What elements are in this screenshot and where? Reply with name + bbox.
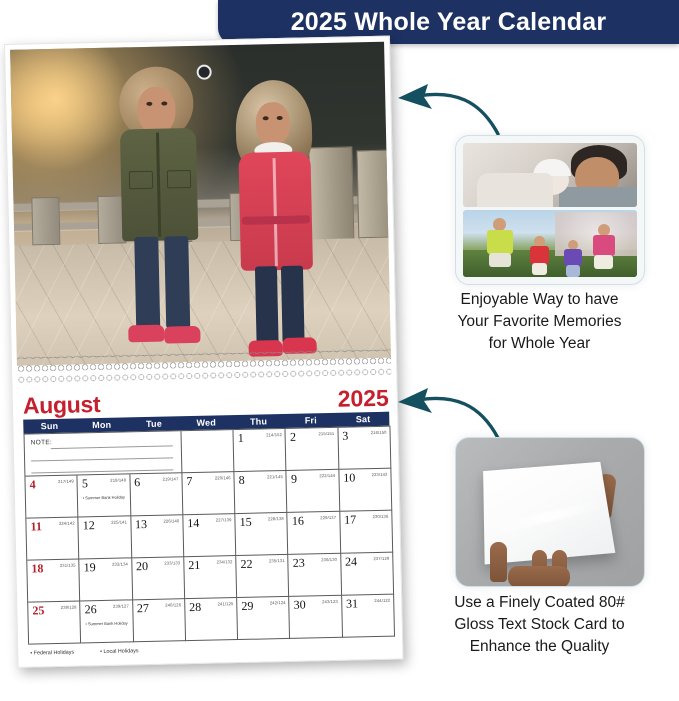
stone-pillar (356, 149, 391, 238)
day-number: 18 (31, 561, 43, 576)
calendar-day-cell[interactable]: 5218/148• Summer Bank Holiday (78, 474, 131, 517)
calendar-card: August 2025 SunMonTueWedThuFriSat NOTE: … (4, 36, 404, 668)
day-number: 22 (240, 557, 252, 572)
day-of-year-code: 231/135 (60, 563, 76, 568)
day-number: 29 (241, 599, 253, 614)
family-hiking-photo (463, 210, 637, 277)
dow-sat: Sat (337, 412, 390, 427)
note-label: NOTE: (31, 439, 53, 446)
day-number: 5 (82, 476, 88, 491)
calendar-day-cell[interactable]: 29242/124 (237, 597, 290, 640)
day-number: 31 (346, 596, 358, 611)
day-number: 28 (189, 600, 201, 615)
punch-hole (196, 64, 211, 79)
calendar-day-cell[interactable]: 3216/150 (338, 427, 391, 470)
day-of-year-code: 237/129 (373, 556, 389, 561)
day-of-year-code: 223/143 (372, 472, 388, 477)
caption-line: Enhance the Quality (400, 636, 679, 658)
calendar-day-cell[interactable]: 27240/126 (133, 599, 186, 642)
pointer-arrow-icon (388, 78, 508, 138)
legend-item: • Federal Holidays (30, 650, 74, 657)
caption-line: Use a Finely Coated 80# (400, 592, 679, 614)
day-number: 3 (342, 429, 348, 444)
dow-thu: Thu (232, 414, 285, 429)
calendar-day-cell[interactable]: 16229/137 (288, 512, 341, 555)
day-of-year-code: 242/124 (270, 600, 286, 605)
calendar-day-cell[interactable]: 7220/146 (182, 472, 235, 515)
day-number: 23 (293, 556, 305, 571)
day-number: 27 (137, 601, 149, 616)
calendar-grid: NOTE: 1214/1522215/1513216/1504217/14952… (24, 426, 396, 645)
day-of-year-code: 229/137 (320, 515, 336, 520)
day-of-year-code: 241/125 (218, 601, 234, 606)
feature-caption-2: Use a Finely Coated 80#Gloss Text Stock … (400, 592, 679, 658)
day-number: 4 (29, 477, 35, 492)
holiday-label: • Summer Bank Holiday (81, 620, 132, 627)
day-of-year-code: 243/123 (322, 599, 338, 604)
day-number: 15 (239, 515, 251, 530)
day-of-year-code: 238/128 (61, 605, 77, 610)
day-number: 6 (134, 475, 140, 490)
day-number: 24 (345, 554, 357, 569)
day-of-year-code: 240/126 (165, 602, 181, 607)
day-number: 7 (186, 474, 192, 489)
memories-photo-panel (455, 135, 645, 285)
calendar-day-cell[interactable]: 23236/130 (289, 554, 342, 597)
calendar-day-cell[interactable]: 10223/143 (339, 469, 392, 512)
sun-glow (10, 42, 133, 171)
day-number: 11 (30, 519, 42, 534)
calendar-day-cell[interactable]: 19232/134 (80, 558, 133, 601)
father-baby-photo (463, 143, 637, 207)
caption-line: for Whole Year (400, 333, 679, 355)
palm (508, 566, 570, 587)
pointer-arrow-icon (388, 382, 508, 442)
day-of-year-code: 244/122 (374, 598, 390, 603)
day-of-year-code: 228/138 (268, 516, 284, 521)
calendar-day-cell[interactable]: 21234/132 (184, 556, 237, 599)
day-number: 1 (238, 431, 244, 446)
note-block[interactable]: NOTE: (25, 431, 183, 476)
calendar-day-cell[interactable]: 9222/144 (287, 470, 340, 513)
child-girl (233, 79, 327, 357)
day-of-year-code: 227/139 (216, 517, 232, 522)
day-number: 26 (84, 602, 96, 617)
day-number: 10 (343, 470, 355, 485)
calendar-day-cell[interactable]: 11224/142 (26, 517, 79, 560)
calendar-product-image: August 2025 SunMonTueWedThuFriSat NOTE: … (4, 36, 406, 674)
day-of-year-code: 235/131 (269, 558, 285, 563)
calendar-day-cell[interactable]: 31244/122 (342, 595, 395, 638)
day-of-year-code: 219/147 (162, 476, 178, 481)
calendar-day-cell[interactable]: 4217/149 (25, 475, 78, 518)
day-number: 13 (135, 517, 147, 532)
gloss-shine (492, 499, 606, 535)
page-title: 2025 Whole Year Calendar (291, 8, 607, 37)
day-of-year-code: 216/150 (371, 430, 387, 435)
caption-line: Gloss Text Stock Card to (400, 614, 679, 636)
calendar-day-cell[interactable]: 18231/135 (27, 559, 80, 602)
note-line (51, 445, 173, 449)
day-number: 12 (83, 518, 95, 533)
day-of-year-code: 221/145 (267, 474, 283, 479)
calendar-day-cell[interactable]: 17230/136 (340, 511, 393, 554)
day-of-year-code: 234/132 (217, 559, 233, 564)
calendar-day-cell[interactable]: 12225/141 (79, 516, 132, 559)
day-number: 2 (290, 430, 296, 445)
legend-item: • Local Holidays (100, 648, 139, 655)
day-of-year-code: 236/130 (321, 557, 337, 562)
dow-fri: Fri (285, 413, 338, 428)
caption-line: Your Favorite Memories (400, 311, 679, 333)
calendar-day-cell[interactable]: 8221/145 (235, 471, 288, 514)
day-number: 30 (294, 598, 306, 613)
calendar-day-cell[interactable]: 14227/139 (183, 514, 236, 557)
day-number: 16 (292, 514, 304, 529)
caption-line: Enjoyable Way to have (400, 289, 679, 311)
day-number: 9 (291, 472, 297, 487)
month-name: August (23, 391, 101, 420)
calendar-hero-photo (10, 42, 391, 366)
day-of-year-code: 225/141 (111, 519, 127, 524)
day-of-year-code: 233/133 (164, 560, 180, 565)
day-of-year-code: 230/136 (372, 514, 388, 519)
note-line (31, 457, 173, 461)
calendar-day-cell[interactable]: 28241/125 (185, 598, 238, 641)
day-of-year-code: 232/134 (112, 561, 128, 566)
day-of-year-code: 222/144 (319, 473, 335, 478)
day-number: 19 (84, 560, 96, 575)
calendar-day-cell[interactable]: 24237/129 (341, 553, 394, 596)
calendar-day-cell[interactable]: 15228/138 (235, 513, 288, 556)
calendar-day-cell-empty (181, 430, 234, 473)
calendar-day-cell[interactable]: 2215/151 (286, 428, 339, 471)
day-number: 8 (239, 473, 245, 488)
calendar-day-cell[interactable]: 6219/147 (130, 473, 183, 516)
calendar-day-cell[interactable]: 1214/152 (234, 429, 287, 472)
day-of-year-code: 239/127 (113, 603, 129, 608)
holiday-label: • Summer Bank Holiday (78, 494, 129, 501)
gloss-paper-photo-panel (455, 437, 645, 587)
day-of-year-code: 224/142 (59, 521, 75, 526)
day-number: 25 (32, 603, 44, 618)
day-number: 21 (188, 558, 200, 573)
feature-caption-1: Enjoyable Way to haveYour Favorite Memor… (400, 289, 679, 355)
calendar-day-cell[interactable]: 25238/128 (28, 601, 81, 644)
day-of-year-code: 220/146 (215, 475, 231, 480)
calendar-day-cell[interactable]: 30243/123 (290, 596, 343, 639)
day-of-year-code: 218/148 (110, 477, 126, 482)
day-number: 20 (136, 559, 148, 574)
dow-sun: Sun (23, 419, 76, 434)
month-year: 2025 (337, 385, 389, 413)
calendar-day-cell[interactable]: 20233/133 (132, 557, 185, 600)
dow-tue: Tue (128, 416, 181, 431)
calendar-day-cell[interactable]: 22235/131 (236, 555, 289, 598)
dow-mon: Mon (75, 417, 128, 432)
day-of-year-code: 215/151 (318, 431, 334, 436)
day-number: 14 (187, 516, 199, 531)
day-of-year-code: 214/152 (266, 432, 282, 437)
dow-wed: Wed (180, 415, 233, 430)
finger (490, 542, 507, 582)
day-of-year-code: 217/149 (58, 479, 74, 484)
calendar-day-cell[interactable]: 26239/127• Summer Bank Holiday (80, 600, 133, 643)
calendar-day-cell[interactable]: 13226/140 (131, 515, 184, 558)
day-number: 17 (344, 512, 356, 527)
day-of-year-code: 226/140 (163, 518, 179, 523)
child-boy (115, 66, 211, 358)
